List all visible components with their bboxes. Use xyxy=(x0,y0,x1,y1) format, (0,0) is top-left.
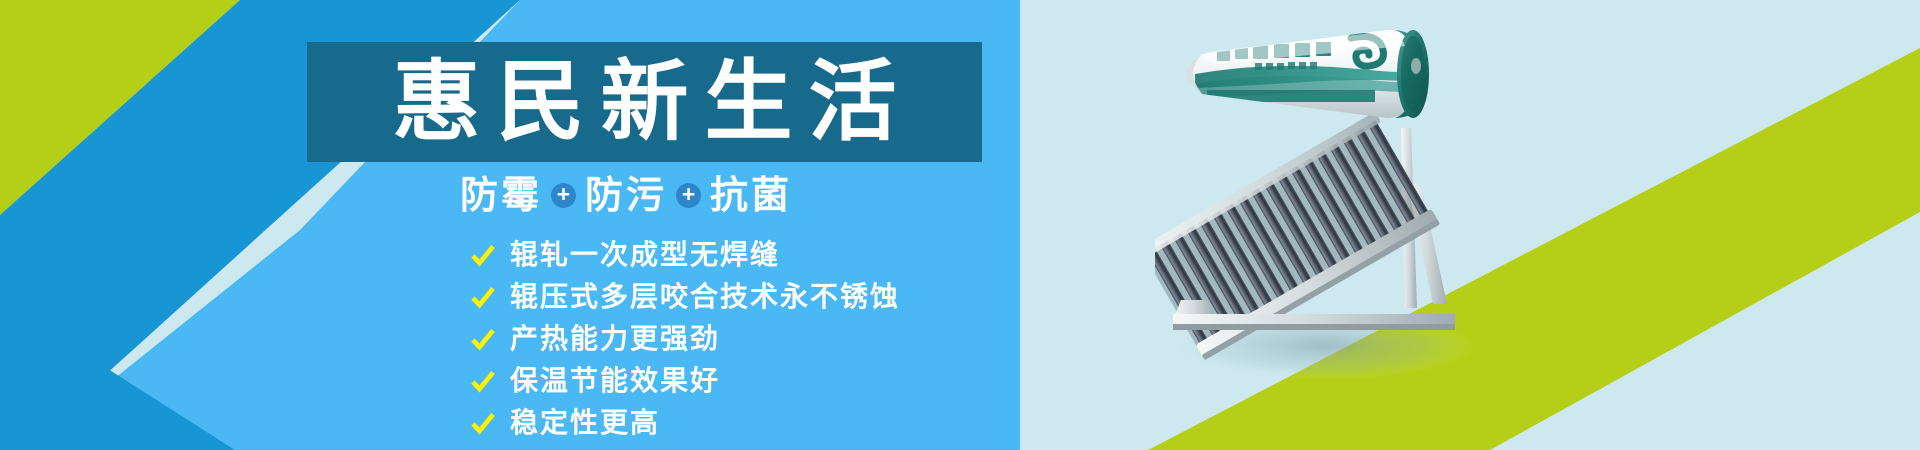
check-icon xyxy=(470,368,496,394)
promo-banner: 惠民新生活 防霉 + 防污 + 抗菌 辊轧一次成型无焊缝 辊压式多层咬合技术永不… xyxy=(0,0,1920,450)
headline-box: 惠民新生活 xyxy=(307,42,982,162)
base-rail-shadow xyxy=(1173,324,1455,330)
list-item-label: 辊压式多层咬合技术永不锈蚀 xyxy=(510,283,900,311)
list-item: 辊轧一次成型无焊缝 xyxy=(470,238,900,272)
list-item: 保温节能效果好 xyxy=(470,364,900,398)
plus-icon-2: + xyxy=(676,183,701,208)
tank-end-cap-inner xyxy=(1401,36,1425,112)
page-title: 惠民新生活 xyxy=(376,58,912,146)
check-icon xyxy=(470,242,496,268)
list-item-label: 保温节能效果好 xyxy=(510,367,720,395)
list-item-label: 辊轧一次成型无焊缝 xyxy=(510,241,780,269)
subtitle-word-1: 防霉 xyxy=(460,176,542,214)
check-icon xyxy=(470,326,496,352)
check-icon xyxy=(470,410,496,436)
list-item: 产热能力更强劲 xyxy=(470,322,900,356)
list-item-label: 稳定性更高 xyxy=(510,409,660,437)
tank-port-fitting xyxy=(1411,58,1421,74)
list-item: 辊压式多层咬合技术永不锈蚀 xyxy=(470,280,900,314)
list-item-label: 产热能力更强劲 xyxy=(510,325,720,353)
check-icon xyxy=(470,284,496,310)
subtitle-row: 防霉 + 防污 + 抗菌 xyxy=(460,172,792,218)
water-tank xyxy=(1187,30,1429,118)
product-image-solar-water-heater xyxy=(1155,8,1485,380)
subtitle-word-3: 抗菌 xyxy=(710,176,792,214)
list-item: 稳定性更高 xyxy=(470,406,900,440)
subtitle-word-2: 防污 xyxy=(585,176,667,214)
plus-icon-1: + xyxy=(551,183,576,208)
solar-water-heater-illustration xyxy=(1155,8,1485,380)
feature-list: 辊轧一次成型无焊缝 辊压式多层咬合技术永不锈蚀 产热能力更强劲 保温节能效果好 xyxy=(470,238,900,440)
